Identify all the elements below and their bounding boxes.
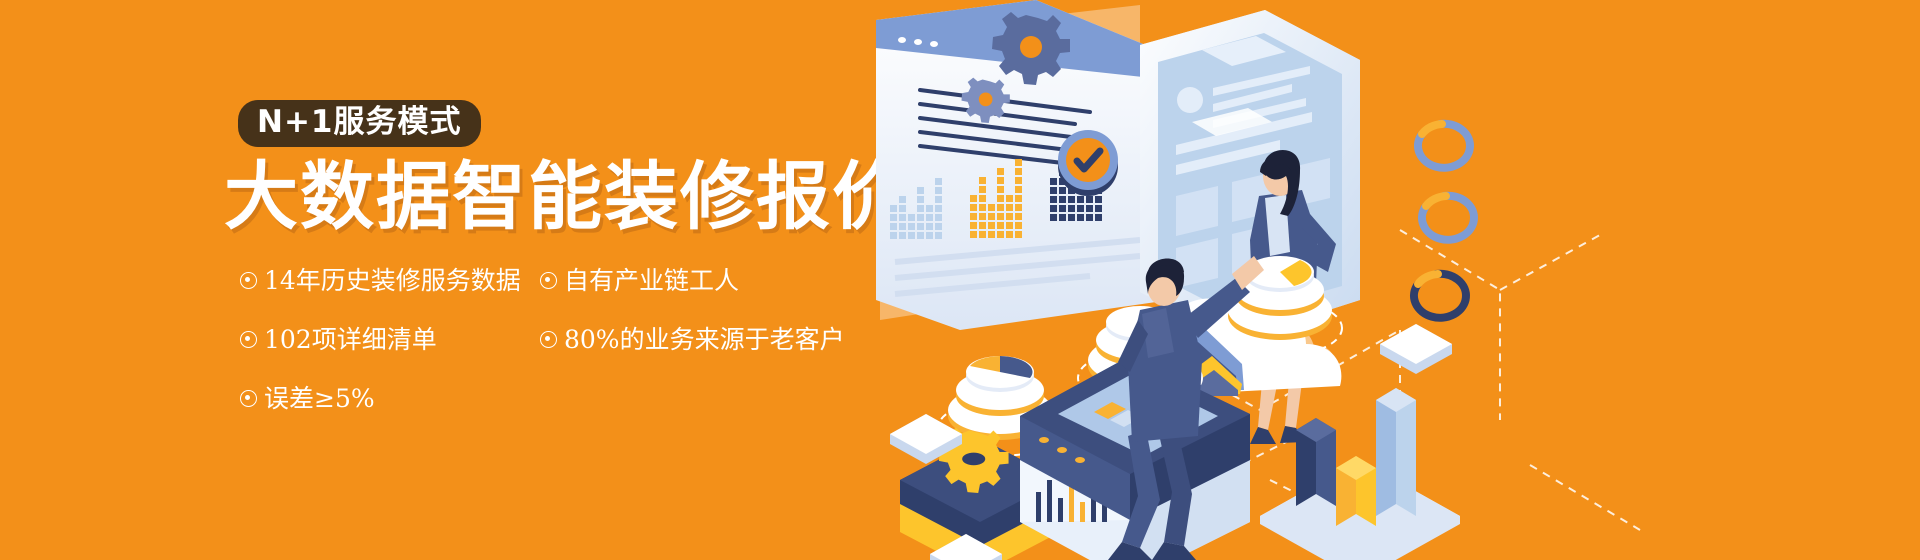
bar-light-blue xyxy=(1376,388,1416,516)
list-item-label: 80%的业务来源于老客户 xyxy=(564,327,845,352)
refresh-ring-icon xyxy=(1418,124,1470,168)
big-data-isometric-illustration xyxy=(840,0,1920,560)
banner-text-block: N+1服务模式 大数据智能装修报价 14年历史装修服务数据 自有产业链工人 10… xyxy=(0,0,960,560)
circled-dot-icon xyxy=(240,272,257,289)
list-item-label: 102项详细清单 xyxy=(264,327,437,352)
list-item-label: 14年历史装修服务数据 xyxy=(264,268,521,293)
data-tile xyxy=(1380,324,1452,374)
service-mode-badge: N+1服务模式 xyxy=(238,100,481,147)
bar-navy xyxy=(1296,418,1336,506)
circled-dot-icon xyxy=(240,390,257,407)
list-item: 误差≥5% xyxy=(240,386,540,411)
promo-banner: N+1服务模式 大数据智能装修报价 14年历史装修服务数据 自有产业链工人 10… xyxy=(0,0,1920,560)
list-item-label: 误差≥5% xyxy=(264,386,375,411)
list-item: 80%的业务来源于老客户 xyxy=(540,327,880,352)
list-item: 14年历史装修服务数据 xyxy=(240,268,540,293)
checkmark-badge-icon xyxy=(1058,130,1118,196)
circled-dot-icon xyxy=(540,272,557,289)
refresh-ring-icon xyxy=(1422,196,1474,240)
page-title: 大数据智能装修报价 xyxy=(224,160,908,234)
circled-dot-icon xyxy=(240,331,257,348)
refresh-ring-icon xyxy=(1414,274,1466,318)
list-item: 102项详细清单 xyxy=(240,327,540,352)
feature-bullet-list: 14年历史装修服务数据 自有产业链工人 102项详细清单 80%的业务来源于老客… xyxy=(240,268,880,411)
circled-dot-icon xyxy=(540,331,557,348)
list-item: 自有产业链工人 xyxy=(540,268,880,293)
list-item-label: 自有产业链工人 xyxy=(564,268,739,293)
